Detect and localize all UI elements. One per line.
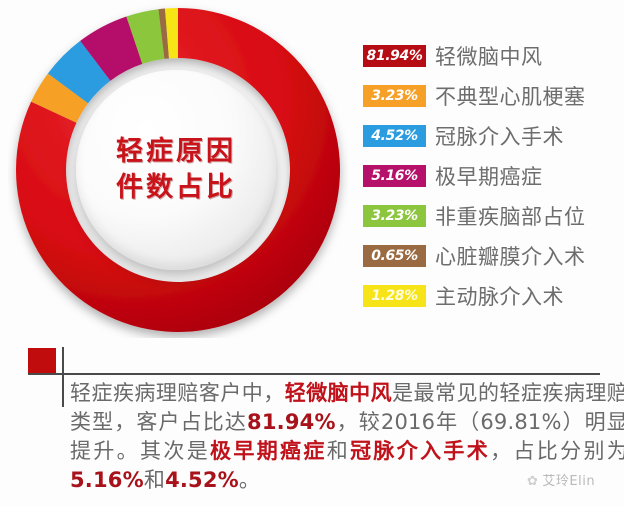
- legend-label: 主动脉介入术: [435, 281, 564, 311]
- legend-color-chip: 4.52%: [363, 125, 426, 147]
- legend-row[interactable]: 1.28%主动脉介入术: [363, 276, 621, 316]
- legend-label: 非重疾脑部占位: [435, 201, 586, 231]
- flower-icon: ✿: [527, 474, 538, 489]
- legend-label: 冠脉介入手术: [435, 121, 564, 151]
- legend-row[interactable]: 0.65%心脏瓣膜介入术: [363, 236, 621, 276]
- legend-label: 极早期癌症: [435, 161, 543, 191]
- legend-label: 不典型心肌梗塞: [435, 81, 586, 111]
- legend-color-chip: 0.65%: [363, 245, 426, 267]
- legend-percent: 0.65%: [371, 249, 418, 263]
- callout-number: 4.52%: [165, 468, 239, 492]
- legend-row[interactable]: 81.94%轻微脑中风: [363, 36, 621, 76]
- callout-text-run: 和: [327, 439, 350, 463]
- callout-text-run: 。: [239, 468, 260, 492]
- chart-legend: 81.94%轻微脑中风3.23%不典型心肌梗塞4.52%冠脉介入手术5.16%极…: [363, 36, 621, 316]
- legend-percent: 3.23%: [371, 89, 418, 103]
- callout-text-run: 轻症疾病理赔客户中，: [70, 381, 285, 405]
- donut-center-hub: 轻症原因 件数占比: [76, 70, 276, 270]
- callout-highlight: 极早期癌症: [210, 439, 327, 463]
- callout-number: 81.94%: [247, 410, 336, 434]
- legend-label: 轻微脑中风: [435, 41, 543, 71]
- legend-percent: 81.94%: [367, 49, 423, 63]
- legend-row[interactable]: 5.16%极早期癌症: [363, 156, 621, 196]
- callout-horizontal-rule: [28, 373, 600, 375]
- donut-chart: 轻症原因 件数占比: [8, 2, 348, 338]
- callout-vertical-rule: [62, 347, 64, 407]
- watermark-text: 艾玲Elin: [542, 474, 595, 489]
- callout-text-run: 和: [144, 468, 165, 492]
- callout-highlight: 冠脉介入手术: [350, 439, 490, 463]
- callout-marker-square: [28, 348, 56, 373]
- legend-color-chip: 81.94%: [363, 45, 426, 67]
- legend-color-chip: 3.23%: [363, 85, 426, 107]
- donut-center-line-2: 件数占比: [116, 170, 236, 206]
- legend-label: 心脏瓣膜介入术: [435, 241, 586, 271]
- callout-number: 5.16%: [70, 468, 144, 492]
- callout-text-run: ，占比分别为: [490, 439, 624, 463]
- legend-row[interactable]: 3.23%非重疾脑部占位: [363, 196, 621, 236]
- legend-percent: 1.28%: [371, 289, 418, 303]
- callout-highlight: 轻微脑中风: [285, 381, 392, 405]
- legend-row[interactable]: 4.52%冠脉介入手术: [363, 116, 621, 156]
- legend-percent: 4.52%: [371, 129, 418, 143]
- watermark: ✿艾玲Elin: [527, 470, 595, 489]
- legend-percent: 5.16%: [371, 169, 418, 183]
- legend-color-chip: 5.16%: [363, 165, 426, 187]
- legend-color-chip: 3.23%: [363, 205, 426, 227]
- legend-row[interactable]: 3.23%不典型心肌梗塞: [363, 76, 621, 116]
- legend-percent: 3.23%: [371, 209, 418, 223]
- donut-center-line-1: 轻症原因: [116, 134, 236, 170]
- legend-color-chip: 1.28%: [363, 285, 426, 307]
